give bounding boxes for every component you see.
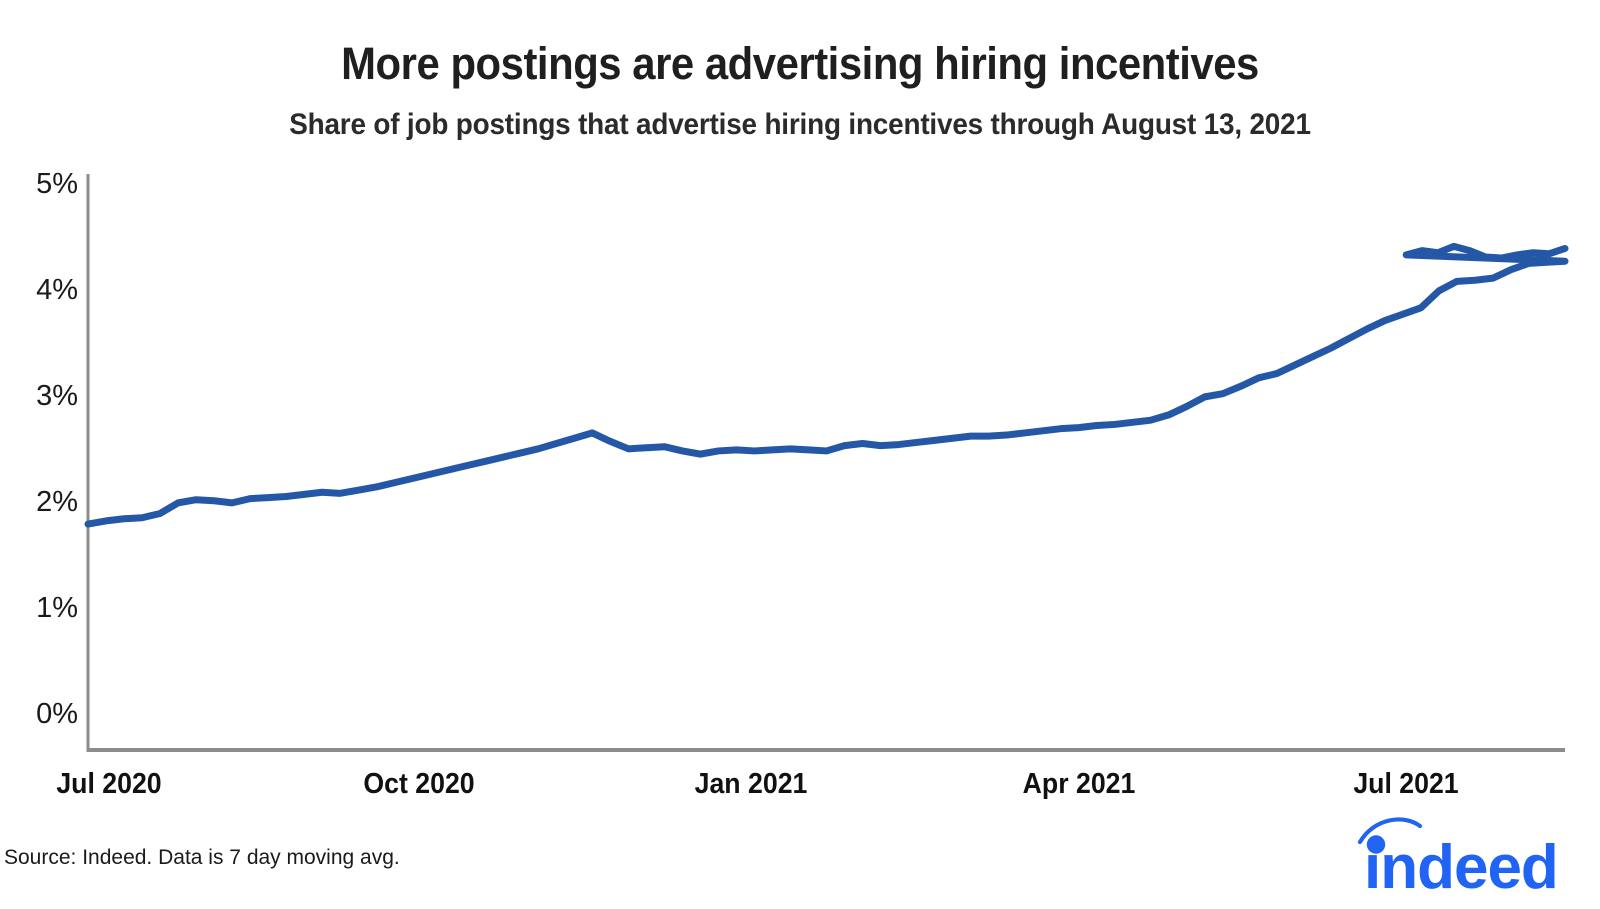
x-tick-label: Jul 2020 [56,768,161,801]
line-series-path [88,246,1565,524]
y-tick-label: 3% [8,380,78,413]
axes [87,174,1565,752]
indeed-logo: indeed [1330,812,1570,894]
x-tick-label: Jul 2021 [1354,768,1459,801]
y-tick-label: 2% [8,486,78,519]
x-tick-label: Jan 2021 [694,768,807,801]
y-tick-label: 1% [8,592,78,625]
y-tick-label: 5% [8,168,78,201]
source-note: Source: Indeed. Data is 7 day moving avg… [4,846,400,870]
logo-wordmark: indeed [1364,833,1558,894]
y-tick-label: 4% [8,274,78,307]
data-series-group [88,246,1565,524]
x-tick-label: Oct 2020 [364,768,475,801]
chart-figure: More postings are advertising hiring inc… [0,0,1600,909]
x-tick-label: Apr 2021 [1022,768,1135,801]
y-tick-label: 0% [8,698,78,731]
